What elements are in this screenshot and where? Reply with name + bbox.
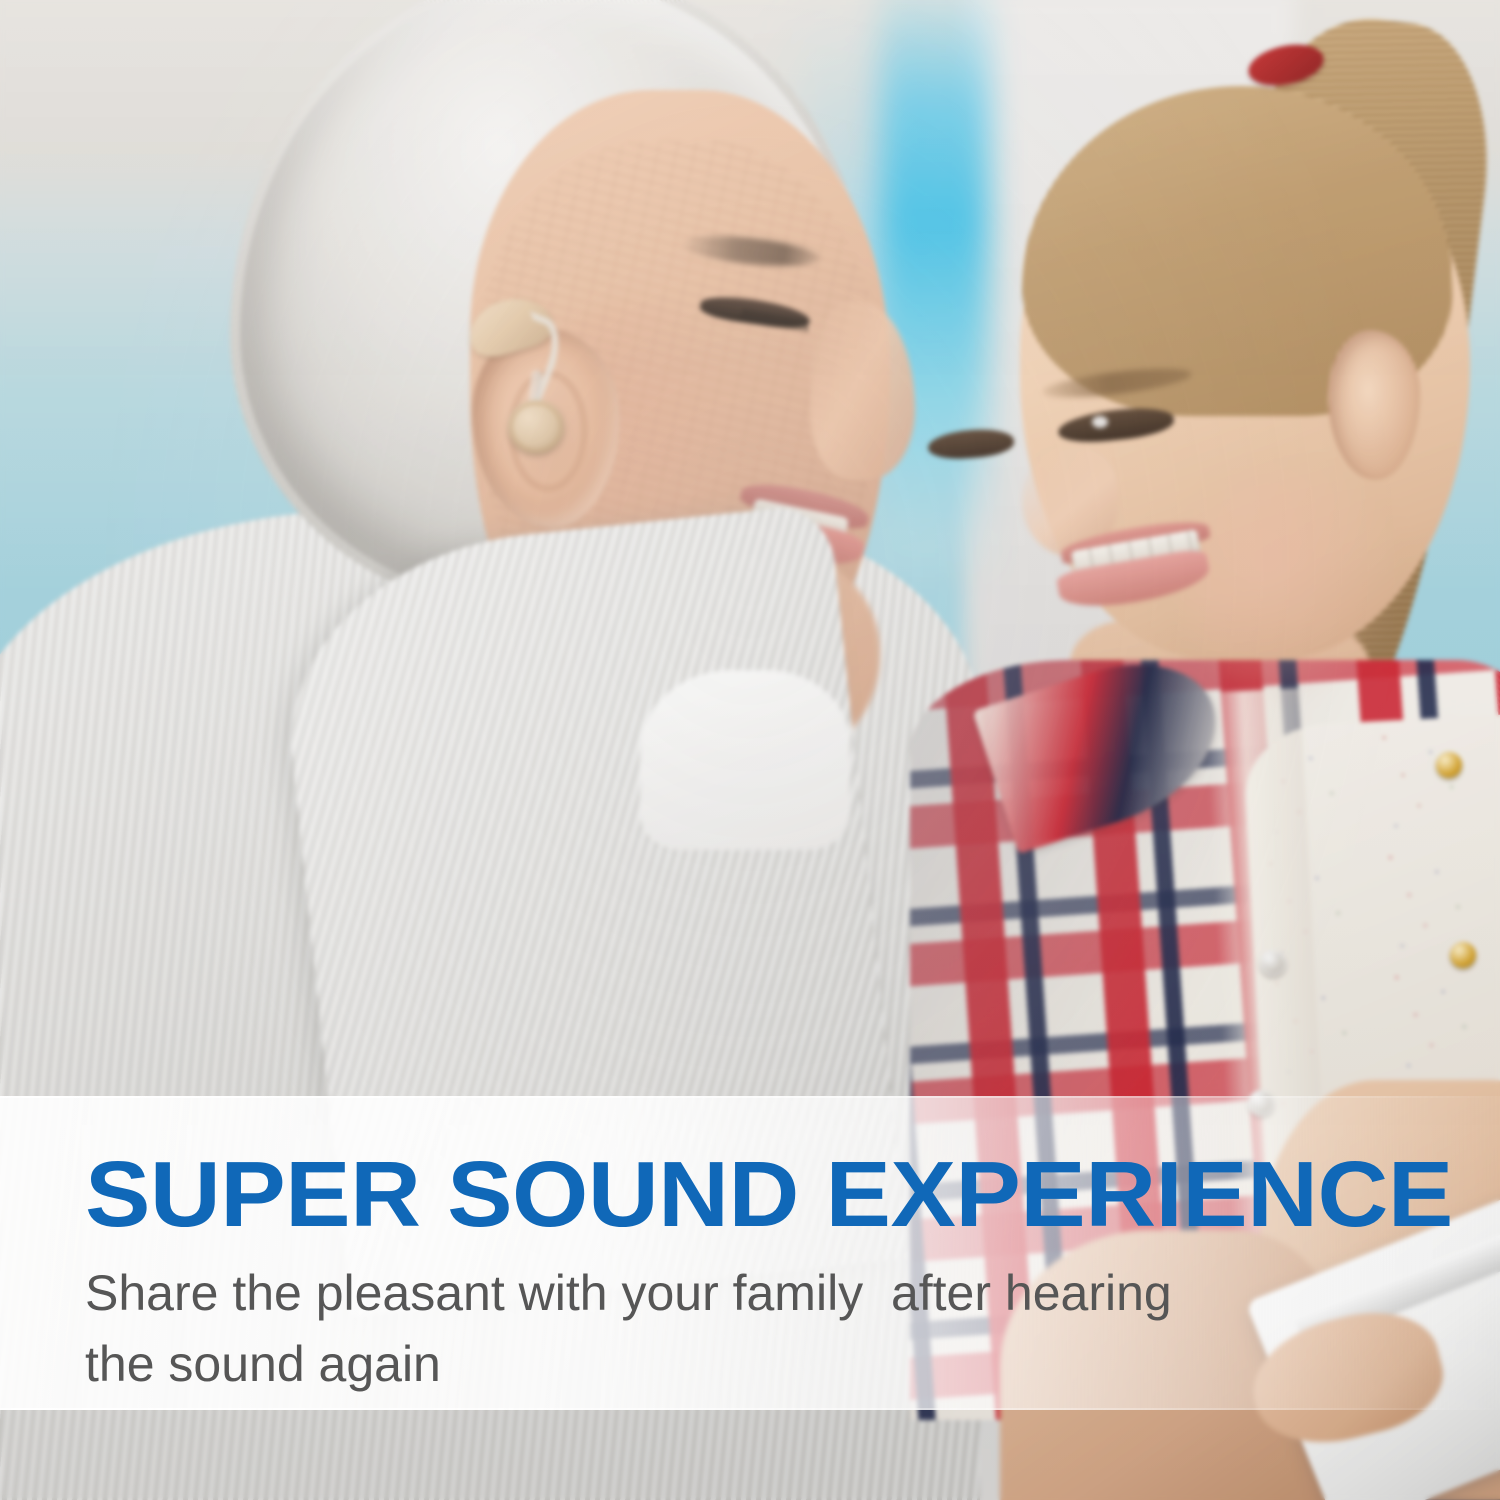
subtitle-text: Share the pleasant with your family afte… <box>85 1258 1185 1400</box>
overlay-top-edge <box>0 1096 1500 1098</box>
womans-nose <box>810 300 915 480</box>
eye-highlight <box>1092 416 1108 428</box>
banner-stage: SUPER SOUND EXPERIENCE Share the pleasan… <box>0 0 1500 1500</box>
hearing-aid-dome-rim <box>510 402 562 452</box>
shirt-gold-snap-button <box>1450 942 1476 968</box>
girls-cheek <box>1180 470 1400 700</box>
shirt-snap-button <box>1260 950 1286 976</box>
shirt-gold-snap-button <box>1436 752 1462 778</box>
overlay-bottom-edge <box>0 1408 1500 1410</box>
girls-far-eye <box>927 427 1015 461</box>
womans-inner-shirt <box>640 670 850 850</box>
headline-text: SUPER SOUND EXPERIENCE <box>85 1148 1478 1241</box>
